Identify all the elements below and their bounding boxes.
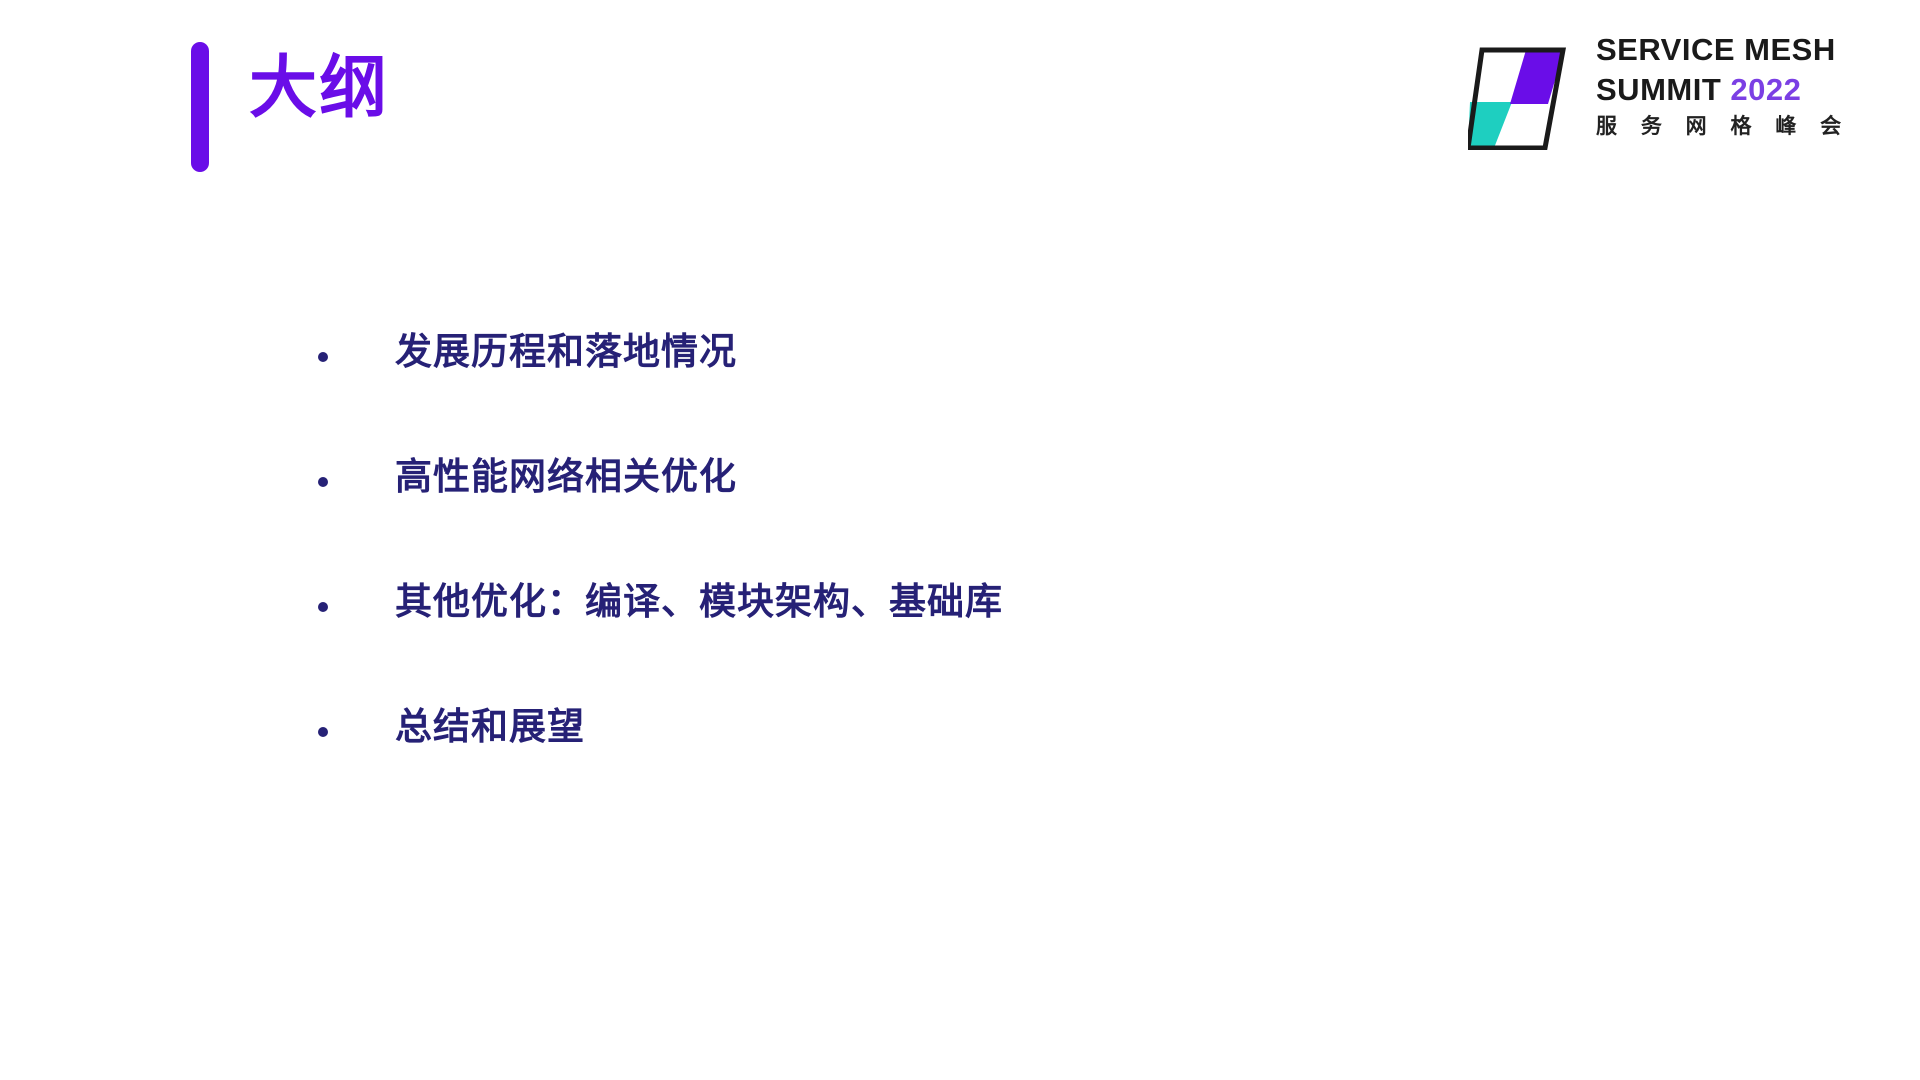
logo-year-text: 2022: [1730, 72, 1801, 107]
outline-item-label: 总结和展望: [395, 705, 585, 749]
logo-line-summit-year: SUMMIT 2022: [1596, 70, 1876, 110]
outline-item-label: 发展历程和落地情况: [395, 330, 737, 374]
bullet-dot-icon: [318, 352, 328, 362]
list-item: 高性能网络相关优化: [318, 455, 1518, 580]
bullet-dot-icon: [318, 727, 328, 737]
outline-item-label: 高性能网络相关优化: [395, 455, 737, 499]
event-logo: SERVICE MESH SUMMIT 2022 服 务 网 格 峰 会: [1468, 30, 1878, 150]
logo-line-chinese: 服 务 网 格 峰 会: [1596, 111, 1876, 143]
list-item: 其他优化：编译、模块架构、基础库: [318, 580, 1518, 705]
outline-item-label: 其他优化：编译、模块架构、基础库: [395, 580, 1003, 624]
list-item: 总结和展望: [318, 705, 1518, 830]
page-title: 大纲: [249, 51, 389, 126]
slide-canvas: 大纲 SERVICE MESH SUMMIT 2022 服 务 网 格 峰 会 …: [0, 0, 1920, 1080]
title-accent-bar: [191, 42, 209, 172]
logo-mark-icon: [1468, 32, 1588, 150]
logo-summit-text: SUMMIT: [1596, 72, 1730, 107]
logo-line-service-mesh: SERVICE MESH: [1596, 30, 1876, 70]
bullet-dot-icon: [318, 477, 328, 487]
bullet-dot-icon: [318, 602, 328, 612]
list-item: 发展历程和落地情况: [318, 330, 1518, 455]
outline-list: 发展历程和落地情况 高性能网络相关优化 其他优化：编译、模块架构、基础库 总结和…: [318, 330, 1518, 830]
logo-wordmark: SERVICE MESH SUMMIT 2022 服 务 网 格 峰 会: [1596, 30, 1876, 143]
